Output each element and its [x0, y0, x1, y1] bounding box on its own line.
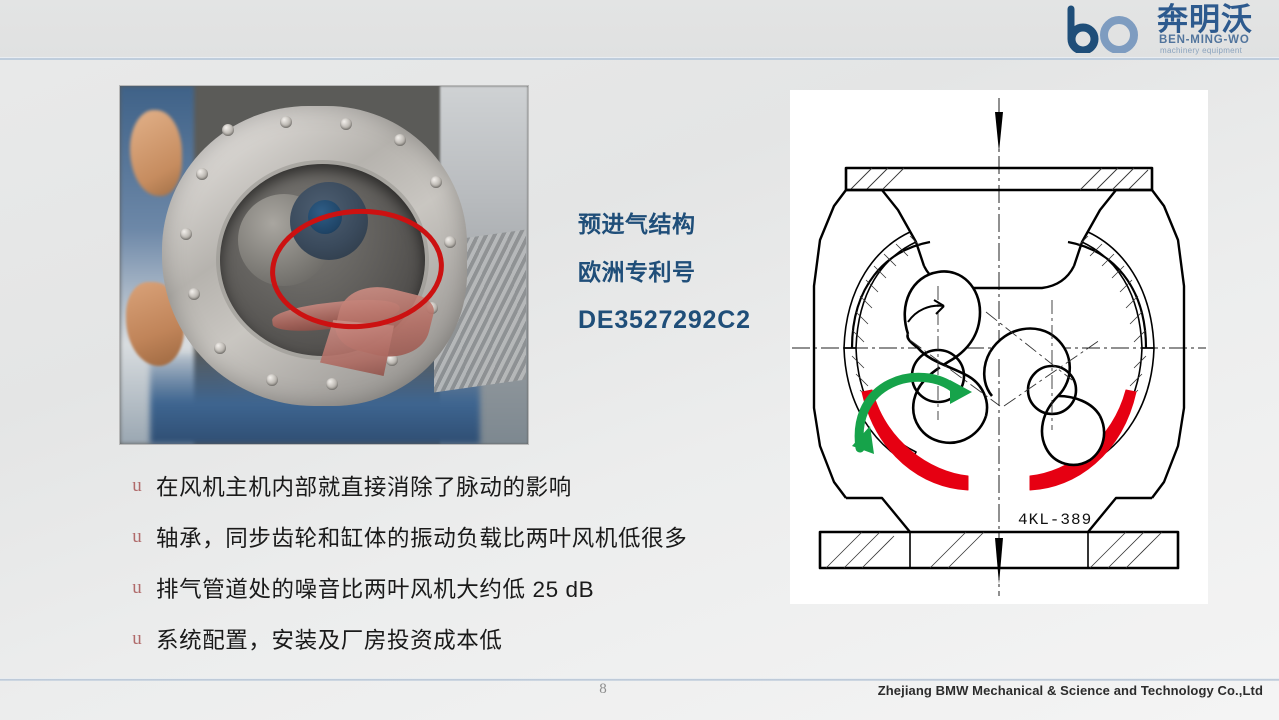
- caption-line-1: 预进气结构: [578, 200, 798, 248]
- list-item: u 排气管道处的噪音比两叶风机大约低 25 dB: [118, 562, 798, 613]
- list-item: u 在风机主机内部就直接消除了脉动的影响: [118, 460, 798, 511]
- footer-company-name: Zhejiang BMW Mechanical & Science and Te…: [878, 683, 1263, 698]
- company-logo: 奔明沃 BEN-MING-WO machinery equipment: [1061, 2, 1275, 58]
- cross-section-drawing: 4KL-389: [790, 90, 1208, 604]
- bullet-marker-icon: u: [118, 578, 156, 597]
- footer-divider: [0, 678, 1279, 681]
- bullet-text: 排气管道处的噪音比两叶风机大约低 25 dB: [156, 572, 594, 604]
- page-number: 8: [588, 681, 618, 698]
- list-item: u 轴承，同步齿轮和缸体的振动负载比两叶风机低很多: [118, 511, 798, 562]
- casing-bolt: [326, 378, 338, 390]
- casing-bolt: [214, 342, 226, 354]
- list-item: u 系统配置，安装及厂房投资成本低: [118, 613, 798, 664]
- casing-bolt: [444, 236, 456, 248]
- bullet-marker-icon: u: [118, 476, 156, 495]
- casing-bolt: [222, 124, 234, 136]
- bullet-marker-icon: u: [118, 527, 156, 546]
- bullet-text: 在风机主机内部就直接消除了脉动的影响: [156, 470, 572, 502]
- casing-bolt: [340, 118, 352, 130]
- casing-bolt: [430, 176, 442, 188]
- patent-caption: 预进气结构 欧洲专利号 DE3527292C2: [578, 200, 798, 344]
- outlet-flow-arrow: [995, 538, 1003, 584]
- bo-monogram-icon: [1061, 5, 1157, 53]
- caption-line-2: 欧洲专利号: [578, 248, 798, 296]
- logo-tagline: machinery equipment: [1160, 46, 1242, 55]
- bullet-text: 轴承，同步齿轮和缸体的振动负载比两叶风机低很多: [156, 521, 687, 553]
- caption-patent-number: DE3527292C2: [578, 296, 798, 344]
- slide-canvas: 奔明沃 BEN-MING-WO machinery equipment: [0, 0, 1279, 720]
- casing-bolt: [188, 288, 200, 300]
- rotor-right: [984, 329, 1104, 465]
- bullet-text: 系统配置，安装及厂房投资成本低: [156, 623, 503, 655]
- inlet-flow-arrow: [995, 112, 1003, 152]
- rotor-left: [905, 271, 987, 442]
- drawing-part-label: 4KL-389: [1018, 511, 1092, 529]
- casing-bolt: [266, 374, 278, 386]
- logo-chinese-name: 奔明沃: [1157, 3, 1253, 36]
- logo-latin-name: BEN-MING-WO: [1159, 34, 1250, 46]
- hatch-base: [826, 532, 1162, 568]
- casing-bolt: [394, 134, 406, 146]
- blower-casing-photo: [120, 86, 528, 444]
- casing-bolt: [196, 168, 208, 180]
- feature-bullet-list: u 在风机主机内部就直接消除了脉动的影响 u 轴承，同步齿轮和缸体的振动负载比两…: [118, 460, 798, 664]
- casing-bolt: [280, 116, 292, 128]
- bullet-marker-icon: u: [118, 629, 156, 648]
- hatch-casing-right: [1078, 236, 1146, 342]
- casing-bolt: [180, 228, 192, 240]
